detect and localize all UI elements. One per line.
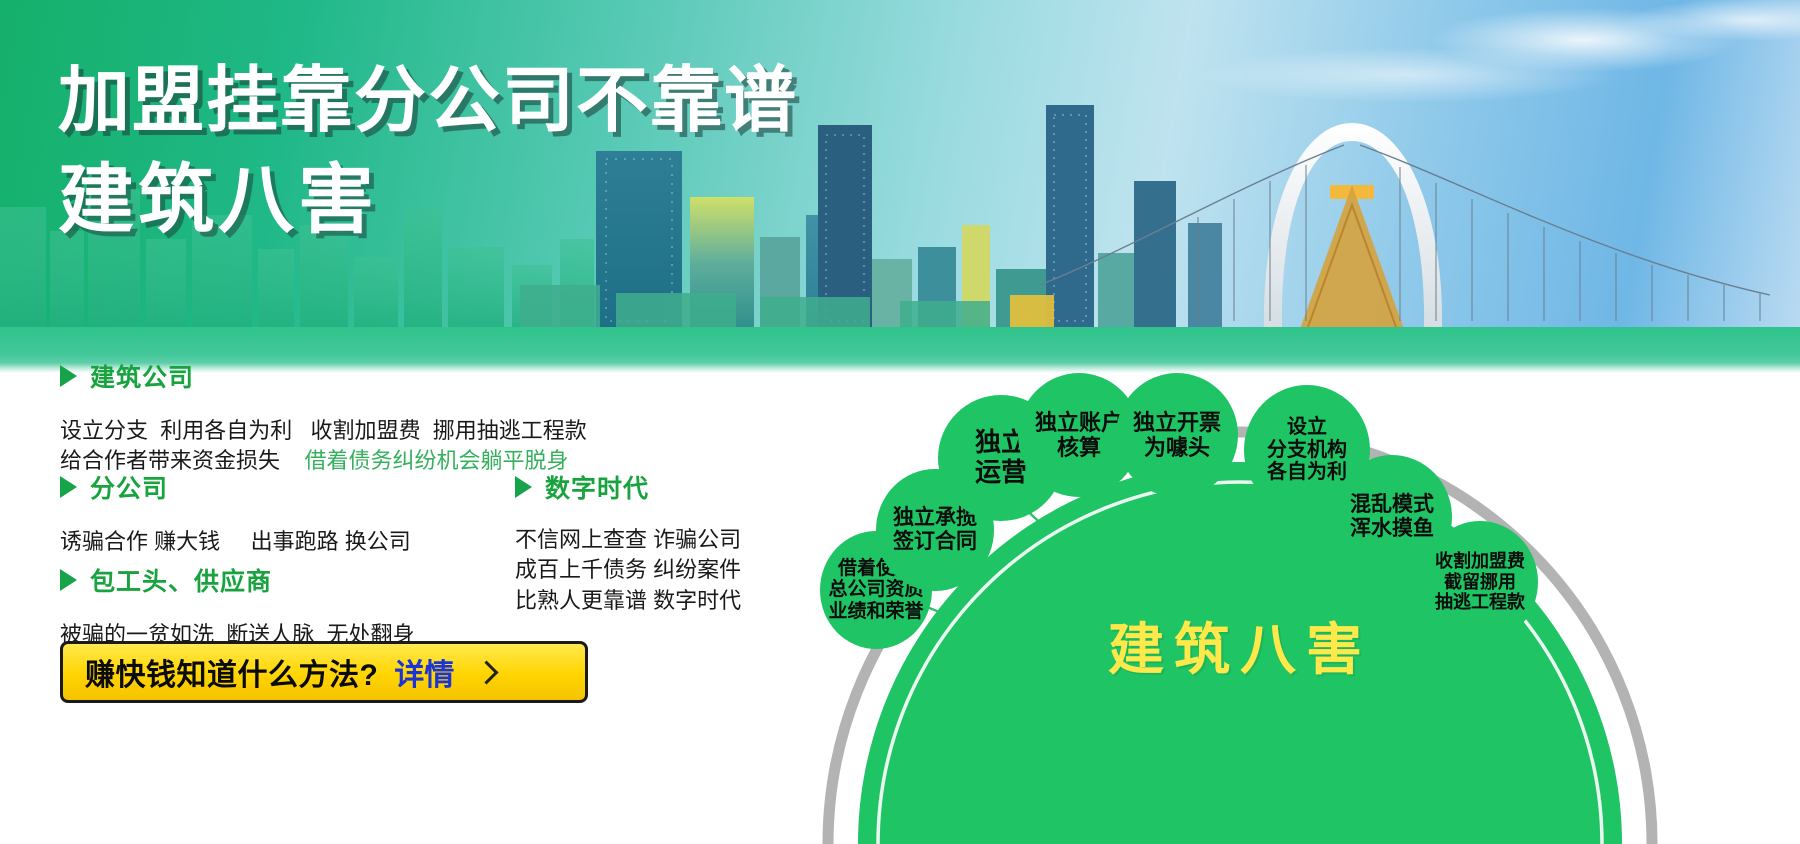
poster-root: 加盟挂靠分公司不靠谱 建筑八害 建筑公司 设立分支 利用各自为利 收割加盟费 挪…	[0, 0, 1800, 844]
section-body: 设立分支 利用各自为利 收割加盟费 挪用抽逃工程款 给合作者带来资金损失 借着债…	[60, 416, 587, 477]
hero-banner: 加盟挂靠分公司不靠谱 建筑八害	[0, 0, 1800, 373]
bubble-diagram: 借着使用 总公司资质 业绩和荣誉 独立承揽 签订合同 独立 运营 独立账户 核算…	[820, 373, 1800, 844]
section-contractor-supplier: 包工头、供应商 被骗的一贫如洗 断送人脉 无处翻身	[60, 562, 414, 650]
bubble-5[interactable]: 独立开票 为噱头	[1116, 373, 1238, 497]
bubble-text: 设立 分支机构 各自为利	[1267, 416, 1347, 484]
section-body: 不信网上查查 诈骗公司 成百上千债务 纠纷案件 比熟人更靠谱 数字时代	[515, 525, 741, 616]
banner-title-line2: 建筑八害	[58, 152, 798, 249]
body-line: 比熟人更靠谱 数字时代	[515, 586, 741, 616]
section-title: 分公司	[90, 469, 168, 505]
body-line: 设立分支 利用各自为利 收割加盟费 挪用抽逃工程款	[60, 416, 587, 446]
section-title: 包工头、供应商	[90, 562, 272, 598]
dome-label: 建筑八害	[980, 605, 1500, 686]
body-line: 诱骗合作 赚大钱 出事跑路 换公司	[60, 527, 411, 557]
triangle-bullet-icon	[515, 476, 532, 498]
body-line: 不信网上查查 诈骗公司	[515, 525, 741, 555]
bubble-text: 独立账户 核算	[1035, 410, 1123, 460]
section-header: 包工头、供应商	[60, 562, 414, 598]
section-body: 诱骗合作 赚大钱 出事跑路 换公司	[60, 527, 411, 557]
triangle-bullet-icon	[60, 569, 77, 591]
cta-detail-link[interactable]: 详情	[394, 650, 454, 694]
section-header: 分公司	[60, 469, 411, 505]
banner-title-line1: 加盟挂靠分公司不靠谱	[58, 58, 798, 146]
section-title: 数字时代	[545, 469, 649, 505]
bubble-text: 独立承揽 签订合同	[893, 506, 977, 554]
section-header: 数字时代	[515, 469, 741, 505]
left-content-column: 建筑公司 设立分支 利用各自为利 收割加盟费 挪用抽逃工程款 给合作者带来资金损…	[0, 373, 820, 844]
section-digital-era: 数字时代 不信网上查查 诈骗公司 成百上千债务 纠纷案件 比熟人更靠谱 数字时代	[515, 469, 741, 616]
triangle-bullet-icon	[60, 365, 77, 387]
section-branch-company: 分公司 诱骗合作 赚大钱 出事跑路 换公司	[60, 469, 411, 557]
triangle-bullet-icon	[60, 476, 77, 498]
section-construction-company: 建筑公司 设立分支 利用各自为利 收割加盟费 挪用抽逃工程款 给合作者带来资金损…	[60, 358, 587, 477]
bubble-text: 混乱模式 浑水摸鱼	[1350, 493, 1434, 541]
chevron-right-icon	[475, 660, 499, 684]
cta-main-text: 赚快钱知道什么方法?	[85, 650, 378, 694]
section-header: 建筑公司	[60, 358, 587, 394]
body-line: 成百上千债务 纠纷案件	[515, 555, 741, 585]
bubble-text: 收割加盟费 截留挪用 抽逃工程款	[1435, 551, 1525, 613]
section-title: 建筑公司	[90, 358, 194, 394]
cta-button[interactable]: 赚快钱知道什么方法? 详情	[60, 641, 588, 703]
page-title: 加盟挂靠分公司不靠谱 建筑八害	[58, 58, 798, 249]
bubble-text: 独立开票 为噱头	[1133, 410, 1221, 460]
